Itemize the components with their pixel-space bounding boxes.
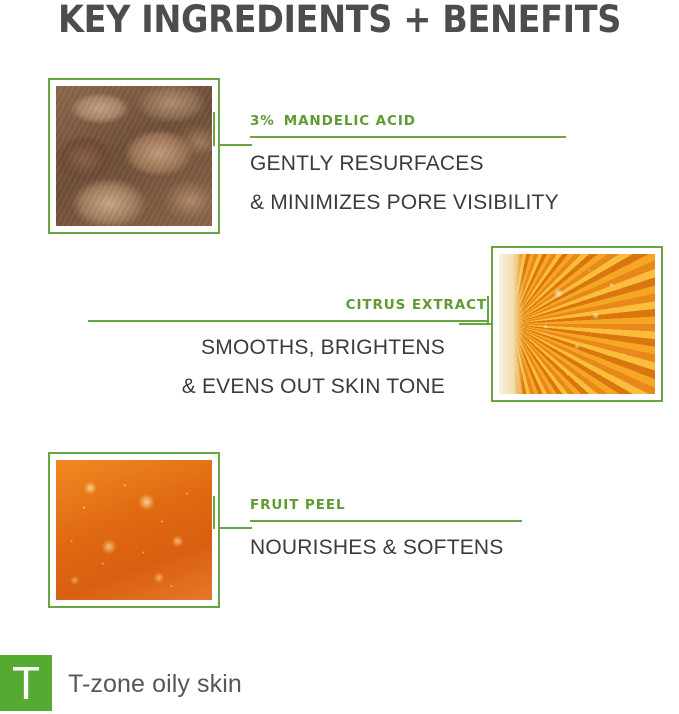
- kicker-rule-fruit-peel: [250, 520, 522, 522]
- benefit-line-1-citrus: SMOOTHS, BRIGHTENS: [88, 334, 487, 361]
- benefit-line-1-mandelic: GENTLY RESURFACES: [250, 150, 566, 177]
- connector-vertical-fruit-peel: [213, 496, 215, 529]
- benefit-line-2-citrus: & EVENS OUT SKIN TONE: [88, 373, 487, 400]
- citrus-slice-photo: [499, 254, 655, 394]
- kicker-rule-mandelic: [250, 136, 566, 138]
- page-title: KEY INGREDIENTS + BENEFITS: [32, 0, 646, 42]
- ingredient-block-mandelic-acid: 3%MANDELIC ACID GENTLY RESURFACES & MINI…: [250, 112, 566, 216]
- ingredient-name: MANDELIC ACID: [284, 113, 416, 129]
- benefit-line-2-mandelic: & MINIMIZES PORE VISIBILITY: [250, 189, 566, 216]
- ingredient-percent: 3%: [250, 113, 275, 129]
- footer-label: T-zone oily skin: [68, 668, 242, 700]
- connector-vertical-mandelic: [213, 112, 215, 146]
- ingredient-image-citrus: [491, 246, 663, 402]
- benefit-line-1-fruit-peel: NOURISHES & SOFTENS: [250, 534, 522, 561]
- ingredient-image-almonds: [48, 78, 220, 234]
- connector-stub-fruit-peel: [220, 527, 252, 529]
- ingredient-kicker-mandelic-acid: 3%MANDELIC ACID: [250, 112, 566, 130]
- ingredient-kicker-fruit-peel: FRUIT PEEL: [250, 496, 522, 514]
- kicker-rule-citrus: [88, 320, 487, 322]
- fruit-peel-photo: [56, 460, 212, 600]
- connector-stub-mandelic: [220, 144, 252, 146]
- infographic-canvas: KEY INGREDIENTS + BENEFITS 3%MANDELIC AC…: [0, 0, 679, 714]
- ingredient-block-citrus-extract: CITRUS EXTRACT SMOOTHS, BRIGHTENS & EVEN…: [88, 296, 487, 400]
- t-zone-badge-icon: T: [0, 655, 52, 711]
- ingredient-image-fruit-peel: [48, 452, 220, 608]
- almonds-photo: [56, 86, 212, 226]
- ingredient-block-fruit-peel: FRUIT PEEL NOURISHES & SOFTENS: [250, 496, 522, 561]
- connector-vertical-citrus: [487, 296, 489, 325]
- ingredient-kicker-citrus-extract: CITRUS EXTRACT: [88, 296, 487, 314]
